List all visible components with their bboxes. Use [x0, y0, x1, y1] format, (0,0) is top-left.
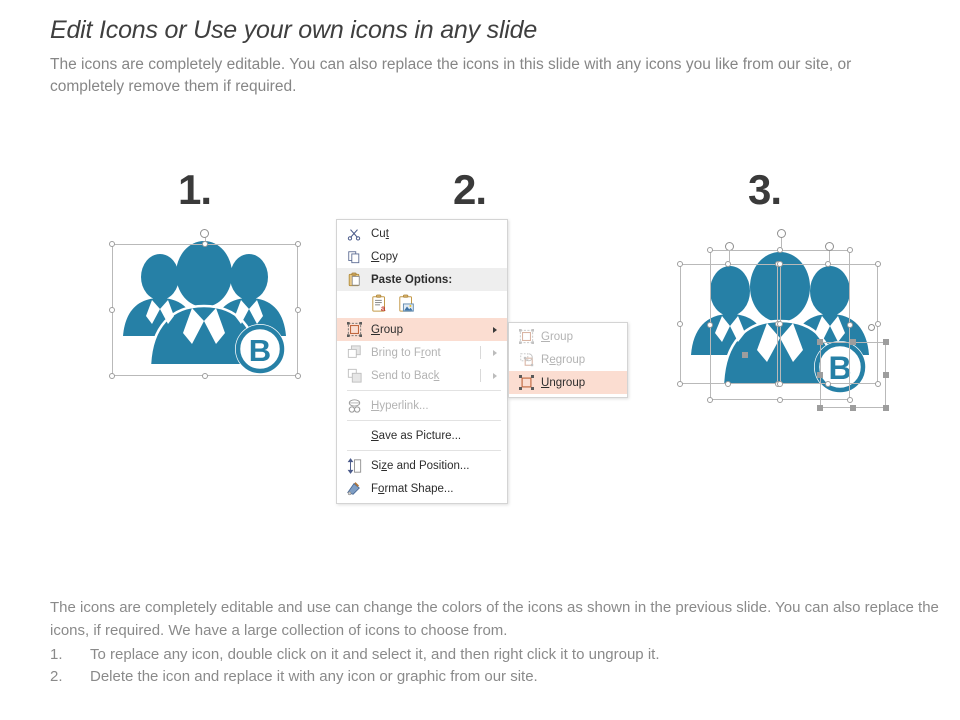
menu-item-label: Size and Position...	[371, 460, 469, 472]
group-submenu[interactable]: Group Regroup Ungroup	[508, 322, 628, 398]
resize-handle-w[interactable]	[109, 307, 115, 313]
scissors-icon	[345, 225, 363, 243]
menu-item-group[interactable]: Group	[337, 318, 507, 341]
resize-handle-w[interactable]	[707, 322, 713, 328]
group-icon	[517, 328, 535, 346]
submenu-item-label: Ungroup	[541, 377, 585, 389]
divider-bar	[480, 369, 481, 382]
resize-handle-sw[interactable]	[707, 397, 713, 403]
submenu-item-group[interactable]: Group	[509, 325, 627, 348]
resize-handle-nw[interactable]	[707, 247, 713, 253]
svg-text:a: a	[381, 304, 386, 313]
paste-picture-icon[interactable]	[398, 294, 416, 316]
rotate-stem	[781, 237, 782, 249]
page-subtitle: The icons are completely editable. You c…	[50, 54, 880, 99]
resize-handle-s[interactable]	[202, 373, 208, 379]
rotate-handle-center[interactable]	[777, 229, 786, 238]
selection-frame-step1[interactable]	[112, 236, 298, 376]
submenu-item-regroup[interactable]: Regroup	[509, 348, 627, 371]
header: Edit Icons or Use your own icons in any …	[50, 16, 930, 99]
resize-handle-se[interactable]	[295, 373, 301, 379]
page-title: Edit Icons or Use your own icons in any …	[50, 16, 930, 45]
menu-item-label: Save as Picture...	[371, 430, 461, 442]
selection-rectangle-badge	[820, 342, 886, 408]
resize-handle-n[interactable]	[202, 241, 208, 247]
context-menu[interactable]: Cut Copy Paste Options:	[336, 219, 508, 504]
resize-handle-inner[interactable]	[742, 352, 748, 358]
menu-item-save-as-picture[interactable]: Save as Picture...	[337, 424, 507, 447]
copy-icon	[345, 248, 363, 266]
resize-handle-w[interactable]	[677, 321, 683, 327]
menu-item-copy[interactable]: Copy	[337, 245, 507, 268]
hyperlink-icon	[345, 397, 363, 415]
slide-canvas: Edit Icons or Use your own icons in any …	[0, 0, 960, 720]
resize-handle-e[interactable]	[875, 321, 881, 327]
footer: The icons are completely editable and us…	[50, 597, 940, 689]
list-item: 2. Delete the icon and replace it with a…	[50, 666, 940, 689]
resize-handle-ne[interactable]	[295, 241, 301, 247]
rotate-handle[interactable]	[200, 229, 209, 238]
menu-item-label: Send to Back	[371, 370, 439, 382]
chevron-right-icon	[493, 373, 497, 379]
resize-handle-nw[interactable]	[109, 241, 115, 247]
resize-handle-ne[interactable]	[883, 339, 889, 345]
menu-item-label: Cut	[371, 228, 389, 240]
clipboard-icon	[345, 271, 363, 289]
bring-to-front-icon	[345, 344, 363, 362]
menu-item-label: Paste Options:	[371, 274, 452, 286]
menu-item-label: Bring to Front	[371, 347, 441, 359]
group-icon	[345, 321, 363, 339]
regroup-icon	[517, 351, 535, 369]
resize-handle-s[interactable]	[850, 405, 856, 411]
ungroup-icon	[517, 374, 535, 392]
resize-handle-n[interactable]	[850, 339, 856, 345]
divider-bar	[480, 346, 481, 359]
resize-handle-sw[interactable]	[817, 405, 823, 411]
menu-header-paste-options: Paste Options:	[337, 268, 507, 291]
resize-handle-w[interactable]	[777, 321, 783, 327]
rotate-stem	[829, 250, 830, 262]
list-item: 1. To replace any icon, double click on …	[50, 644, 940, 667]
chevron-right-icon	[493, 327, 497, 333]
menu-item-send-to-back[interactable]: Send to Back	[337, 364, 507, 387]
menu-item-format-shape[interactable]: Format Shape...	[337, 477, 507, 500]
resize-handle-sw[interactable]	[109, 373, 115, 379]
footer-paragraph: The icons are completely editable and us…	[50, 597, 940, 643]
rotate-handle-right[interactable]	[825, 242, 834, 251]
menu-item-hyperlink[interactable]: Hyperlink...	[337, 394, 507, 417]
step-number-3: 3.	[748, 166, 781, 214]
step-number-1: 1.	[178, 166, 211, 214]
menu-item-label: Format Shape...	[371, 483, 453, 495]
resize-handle-s[interactable]	[777, 397, 783, 403]
submenu-item-ungroup[interactable]: Ungroup	[509, 371, 627, 394]
resize-handle-nw[interactable]	[777, 261, 783, 267]
rotate-handle-badge[interactable]	[868, 324, 875, 331]
resize-handle-e[interactable]	[883, 372, 889, 378]
send-to-back-icon	[345, 367, 363, 385]
resize-handle-n[interactable]	[777, 247, 783, 253]
resize-handle-ne[interactable]	[847, 247, 853, 253]
chevron-right-icon	[493, 350, 497, 356]
list-item-number: 1.	[50, 644, 63, 667]
list-item-number: 2.	[50, 666, 63, 689]
resize-handle-w[interactable]	[817, 372, 823, 378]
footer-list: 1. To replace any icon, double click on …	[50, 644, 940, 690]
selection-rectangle	[112, 244, 298, 376]
selection-frames-step3[interactable]	[672, 236, 888, 408]
resize-handle-e[interactable]	[295, 307, 301, 313]
paste-options-row[interactable]: a	[337, 291, 507, 318]
menu-separator	[347, 420, 501, 421]
menu-item-label: Hyperlink...	[371, 400, 429, 412]
size-position-icon	[345, 457, 363, 475]
resize-handle-ne[interactable]	[875, 261, 881, 267]
menu-item-label: Group	[371, 324, 403, 336]
step-number-2: 2.	[453, 166, 486, 214]
paste-keep-text-icon[interactable]: a	[371, 294, 389, 316]
submenu-item-label: Group	[541, 331, 573, 343]
menu-item-label: Copy	[371, 251, 398, 263]
menu-item-size-and-position[interactable]: Size and Position...	[337, 454, 507, 477]
list-item-text: To replace any icon, double click on it …	[90, 646, 660, 663]
menu-separator	[347, 450, 501, 451]
list-item-text: Delete the icon and replace it with any …	[90, 668, 538, 685]
resize-handle-n[interactable]	[825, 261, 831, 267]
menu-separator	[347, 390, 501, 391]
submenu-item-label: Regroup	[541, 354, 585, 366]
menu-item-cut[interactable]: Cut	[337, 222, 507, 245]
resize-handle-nw[interactable]	[677, 261, 683, 267]
format-shape-icon	[345, 480, 363, 498]
menu-item-bring-to-front[interactable]: Bring to Front	[337, 341, 507, 364]
resize-handle-sw[interactable]	[777, 381, 783, 387]
resize-handle-se[interactable]	[883, 405, 889, 411]
resize-handle-sw[interactable]	[677, 381, 683, 387]
resize-handle-nw[interactable]	[817, 339, 823, 345]
